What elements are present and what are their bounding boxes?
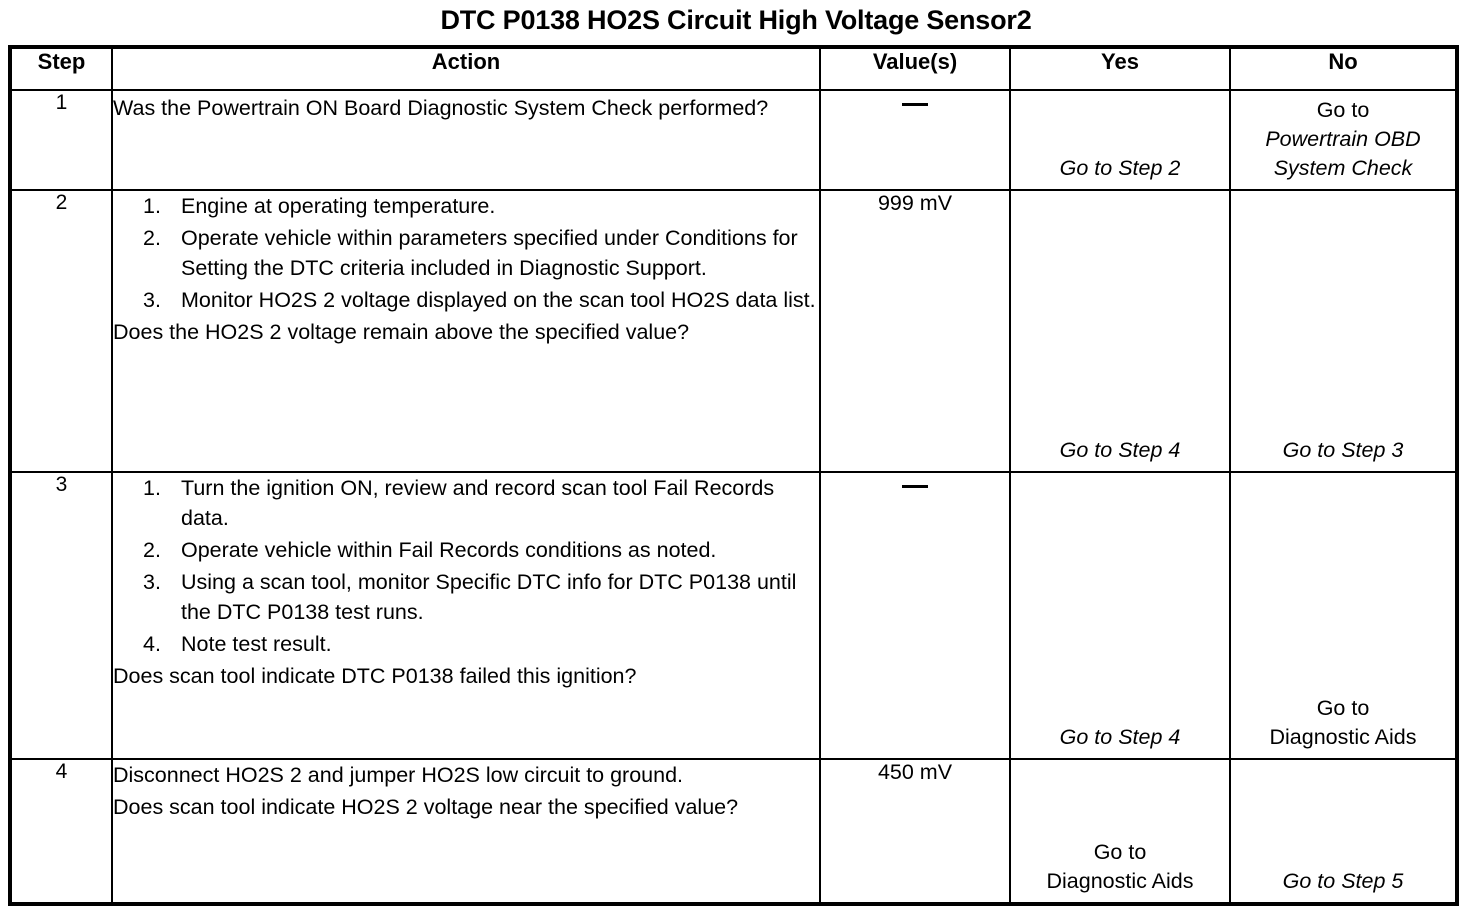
no-answer-cell: Go to Step 3 (1230, 190, 1457, 472)
no-answer-text: Go to Step 3 (1283, 438, 1404, 462)
list-item: 1. Turn the ignition ON, review and reco… (113, 473, 819, 533)
yes-answer-cell: Go to Step 4 (1010, 472, 1230, 759)
em-dash-icon (902, 103, 928, 106)
yes-answer-cell: Go to Step 2 (1010, 90, 1230, 190)
step-number: 3 (10, 472, 112, 759)
column-header-action: Action (112, 47, 820, 90)
no-answer-cell: Go to Step 5 (1230, 759, 1457, 904)
column-header-value: Value(s) (820, 47, 1010, 90)
action-step-list: 1. Turn the ignition ON, review and reco… (113, 473, 819, 659)
table-header-row: Step Action Value(s) Yes No (10, 47, 1457, 90)
em-dash-icon (902, 485, 928, 488)
list-item-number: 3. (143, 567, 169, 597)
yes-answer-text: Go to Step 2 (1060, 156, 1181, 180)
no-answer-cell: Go to Diagnostic Aids (1230, 472, 1457, 759)
no-answer-line3: System Check (1235, 154, 1451, 183)
step-number: 2 (10, 190, 112, 472)
list-item: 2. Operate vehicle within Fail Records c… (113, 535, 819, 565)
no-answer-line2: Powertrain OBD (1235, 125, 1451, 154)
list-item-text: Engine at operating temperature. (181, 194, 495, 218)
table-row: 4 Disconnect HO2S 2 and jumper HO2S low … (10, 759, 1457, 904)
list-item-number: 2. (143, 535, 169, 565)
yes-answer-line2: Diagnostic Aids (1015, 867, 1225, 896)
action-question: Was the Powertrain ON Board Diagnostic S… (113, 93, 819, 123)
no-answer-line1: Go to (1235, 694, 1451, 723)
action-cell: 1. Turn the ignition ON, review and reco… (112, 472, 820, 759)
yes-answer-text: Go to Step 4 (1060, 725, 1181, 749)
action-cell: Disconnect HO2S 2 and jumper HO2S low ci… (112, 759, 820, 904)
value-cell (820, 472, 1010, 759)
no-answer-line2: Diagnostic Aids (1235, 723, 1451, 752)
list-item-text: Monitor HO2S 2 voltage displayed on the … (181, 288, 816, 312)
column-header-step: Step (10, 47, 112, 90)
list-item: 3. Using a scan tool, monitor Specific D… (113, 567, 819, 627)
list-item-number: 4. (143, 629, 169, 659)
action-step-list: 1. Engine at operating temperature. 2. O… (113, 191, 819, 315)
list-item: 1. Engine at operating temperature. (113, 191, 819, 221)
no-answer-cell: Go to Powertrain OBD System Check (1230, 90, 1457, 190)
list-item-text: Using a scan tool, monitor Specific DTC … (181, 570, 796, 624)
action-question: Does the HO2S 2 voltage remain above the… (113, 317, 819, 347)
table-body: 1 Was the Powertrain ON Board Diagnostic… (10, 90, 1457, 904)
action-cell: Was the Powertrain ON Board Diagnostic S… (112, 90, 820, 190)
value-cell: 999 mV (820, 190, 1010, 472)
list-item-number: 1. (143, 473, 169, 503)
yes-answer-text: Go to Step 4 (1060, 438, 1181, 462)
column-header-yes: Yes (1010, 47, 1230, 90)
diagnostic-table: Step Action Value(s) Yes No 1 Was the Po… (8, 45, 1459, 906)
document-page: DTC P0138 HO2S Circuit High Voltage Sens… (0, 0, 1472, 906)
table-row: 2 1. Engine at operating temperature. 2.… (10, 190, 1457, 472)
step-number: 4 (10, 759, 112, 904)
table-row: 3 1. Turn the ignition ON, review and re… (10, 472, 1457, 759)
yes-answer-line1: Go to (1015, 838, 1225, 867)
yes-answer-cell: Go to Step 4 (1010, 190, 1230, 472)
list-item-number: 1. (143, 191, 169, 221)
list-item: 3. Monitor HO2S 2 voltage displayed on t… (113, 285, 819, 315)
list-item-number: 3. (143, 285, 169, 315)
list-item-text: Note test result. (181, 632, 332, 656)
list-item-text: Operate vehicle within Fail Records cond… (181, 538, 716, 562)
action-intro: Disconnect HO2S 2 and jumper HO2S low ci… (113, 760, 819, 790)
action-question: Does scan tool indicate DTC P0138 failed… (113, 661, 819, 691)
step-number: 1 (10, 90, 112, 190)
no-answer-line1: Go to (1235, 96, 1451, 125)
list-item-text: Operate vehicle within parameters specif… (181, 226, 798, 280)
action-cell: 1. Engine at operating temperature. 2. O… (112, 190, 820, 472)
table-row: 1 Was the Powertrain ON Board Diagnostic… (10, 90, 1457, 190)
value-cell (820, 90, 1010, 190)
page-title: DTC P0138 HO2S Circuit High Voltage Sens… (0, 0, 1472, 37)
list-item: 2. Operate vehicle within parameters spe… (113, 223, 819, 283)
no-answer-text: Go to Step 5 (1283, 869, 1404, 893)
action-question: Does scan tool indicate HO2S 2 voltage n… (113, 792, 819, 822)
yes-answer-cell: Go to Diagnostic Aids (1010, 759, 1230, 904)
column-header-no: No (1230, 47, 1457, 90)
list-item-text: Turn the ignition ON, review and record … (181, 476, 774, 530)
table-header: Step Action Value(s) Yes No (10, 47, 1457, 90)
list-item: 4. Note test result. (113, 629, 819, 659)
value-cell: 450 mV (820, 759, 1010, 904)
list-item-number: 2. (143, 223, 169, 253)
